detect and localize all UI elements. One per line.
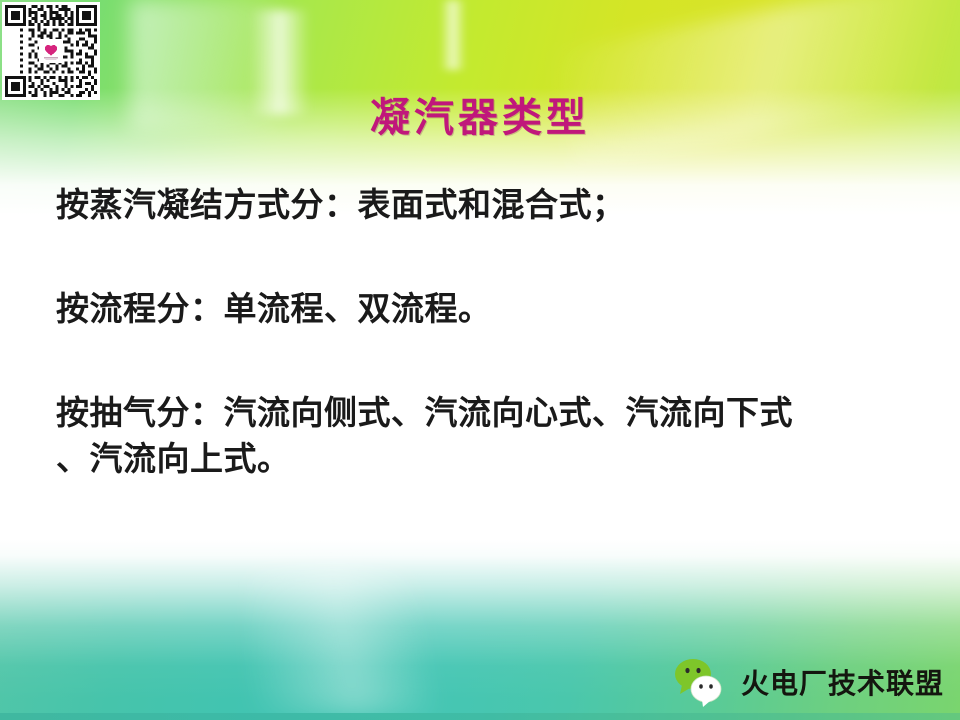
bottom-edge-strip (0, 713, 960, 720)
slide-body: 按蒸汽凝结方式分：表面式和混合式； 按流程分：单流程、双流程。 按抽气分：汽流向… (56, 182, 906, 482)
body-paragraph-3: 按抽气分：汽流向侧式、汽流向心式、汽流向下式 、汽流向上式。 (56, 390, 906, 482)
watermark-label: 火电厂技术联盟 (741, 662, 944, 702)
qr-code-icon[interactable] (2, 2, 100, 100)
presentation-slide: 凝汽器类型 按蒸汽凝结方式分：表面式和混合式； 按流程分：单流程、双流程。 按抽… (0, 0, 960, 720)
top-highlight-streak (553, 0, 960, 170)
wechat-icon (669, 656, 731, 708)
watermark: 火电厂技术联盟 (669, 656, 944, 708)
page-title: 凝汽器类型 (0, 96, 960, 140)
body-paragraph-2: 按流程分：单流程、双流程。 (56, 286, 906, 332)
body-paragraph-1: 按蒸汽凝结方式分：表面式和混合式； (56, 182, 906, 228)
bottom-highlight-streak (250, 564, 450, 714)
top-highlight-streak-thin (440, 0, 466, 70)
